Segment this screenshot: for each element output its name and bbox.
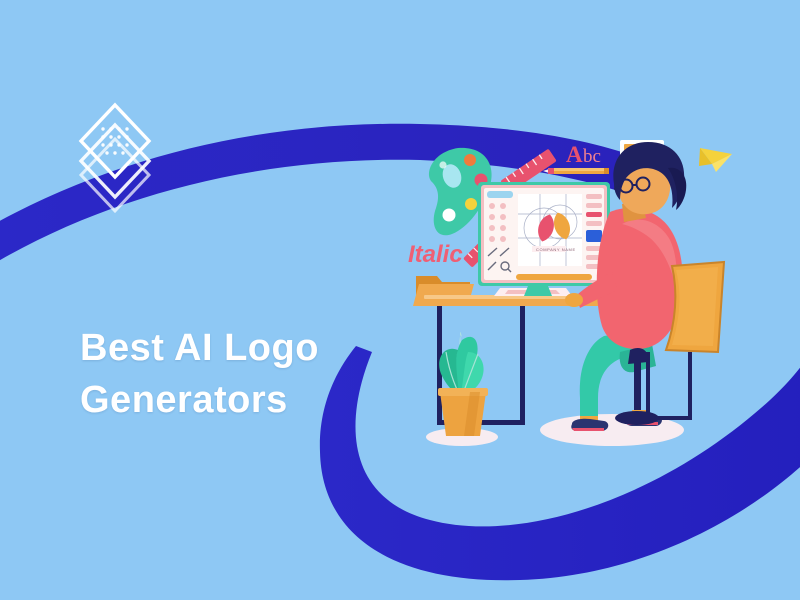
page-title: Best AI Logo Generators <box>80 322 400 427</box>
pencil-icon <box>543 168 609 174</box>
label-italic: Italic <box>408 241 463 268</box>
svg-text:bc: bc <box>583 146 601 167</box>
svg-text:COMPANY NAME: COMPANY NAME <box>536 247 576 252</box>
person-hand <box>565 293 583 307</box>
plant-pot <box>440 392 486 436</box>
chair-cylinder <box>634 362 641 410</box>
illustration-canvas: A bc Aa Italic <box>0 0 800 600</box>
hero-banner: A bc Aa Italic <box>0 0 800 600</box>
chair-post-right <box>688 352 692 418</box>
page-title-line-2: Generators <box>80 374 400 426</box>
screen-canvas: COMPANY NAME <box>518 194 582 266</box>
page-title-line-1: Best AI Logo <box>80 322 400 374</box>
plant-pot-rim <box>438 388 488 396</box>
monitor-screen: COMPANY NAME <box>478 182 610 296</box>
screen-bottom-bar <box>516 274 592 280</box>
svg-text:A: A <box>566 142 583 167</box>
label-abc: A bc <box>566 142 601 167</box>
desk-leg-right <box>520 306 525 424</box>
chair-base <box>615 411 659 425</box>
